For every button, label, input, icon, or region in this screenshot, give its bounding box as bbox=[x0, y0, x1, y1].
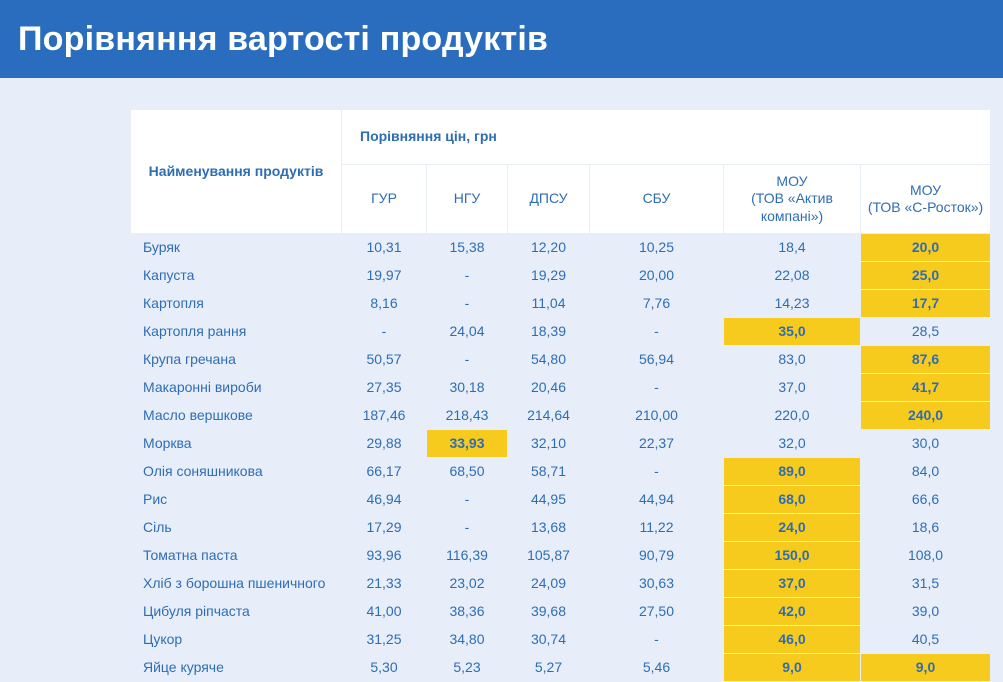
price-cell: - bbox=[427, 514, 507, 541]
price-cell: 30,63 bbox=[590, 570, 723, 597]
price-cell: - bbox=[342, 318, 426, 345]
price-cell: 56,94 bbox=[590, 346, 723, 373]
price-cell: 5,27 bbox=[508, 654, 589, 681]
price-cell: 40,5 bbox=[861, 626, 990, 653]
price-cell: 105,87 bbox=[508, 542, 589, 569]
price-cell: 46,94 bbox=[342, 486, 426, 513]
price-cell: 20,00 bbox=[590, 262, 723, 289]
price-cell: 15,38 bbox=[427, 234, 507, 261]
column-header-sbu: СБУ bbox=[590, 165, 723, 233]
table-row: Томатна паста93,96116,39105,8790,79150,0… bbox=[131, 542, 990, 569]
price-cell-highlighted: 33,93 bbox=[427, 430, 507, 457]
table-body: Буряк10,3115,3812,2010,2518,420,0Капуста… bbox=[131, 234, 990, 681]
price-cell: 34,80 bbox=[427, 626, 507, 653]
price-cell-highlighted: 9,0 bbox=[861, 654, 990, 681]
price-cell: 31,5 bbox=[861, 570, 990, 597]
price-cell: 108,0 bbox=[861, 542, 990, 569]
price-cell: 21,33 bbox=[342, 570, 426, 597]
column-header-mou-aktyv: МОУ (ТОВ «Актив компані») bbox=[724, 165, 860, 233]
price-cell: 23,02 bbox=[427, 570, 507, 597]
price-cell-highlighted: 9,0 bbox=[724, 654, 860, 681]
price-cell: - bbox=[427, 346, 507, 373]
price-cell: 187,46 bbox=[342, 402, 426, 429]
product-name-cell: Цукор bbox=[131, 626, 341, 653]
price-cell: 44,95 bbox=[508, 486, 589, 513]
price-cell: - bbox=[590, 318, 723, 345]
price-cell: 39,68 bbox=[508, 598, 589, 625]
price-cell: 32,0 bbox=[724, 430, 860, 457]
product-name-cell: Буряк bbox=[131, 234, 341, 261]
price-cell: 50,57 bbox=[342, 346, 426, 373]
price-cell-highlighted: 89,0 bbox=[724, 458, 860, 485]
price-cell: 83,0 bbox=[724, 346, 860, 373]
table-row: Макаронні вироби27,3530,1820,46-37,041,7 bbox=[131, 374, 990, 401]
price-cell: 11,22 bbox=[590, 514, 723, 541]
price-cell: 30,0 bbox=[861, 430, 990, 457]
price-cell: 18,4 bbox=[724, 234, 860, 261]
table-row: Капуста19,97-19,2920,0022,0825,0 bbox=[131, 262, 990, 289]
table-row: Цукор31,2534,8030,74-46,040,5 bbox=[131, 626, 990, 653]
price-cell: 22,37 bbox=[590, 430, 723, 457]
product-name-cell: Томатна паста bbox=[131, 542, 341, 569]
price-cell: 66,17 bbox=[342, 458, 426, 485]
price-cell: 18,6 bbox=[861, 514, 990, 541]
price-cell: 14,23 bbox=[724, 290, 860, 317]
price-cell: 214,64 bbox=[508, 402, 589, 429]
product-name-cell: Картопля bbox=[131, 290, 341, 317]
price-cell: 38,36 bbox=[427, 598, 507, 625]
price-cell: 5,46 bbox=[590, 654, 723, 681]
price-cell: - bbox=[590, 458, 723, 485]
table-row: Морква29,8833,9332,1022,3732,030,0 bbox=[131, 430, 990, 457]
price-cell-highlighted: 46,0 bbox=[724, 626, 860, 653]
table-row: Буряк10,3115,3812,2010,2518,420,0 bbox=[131, 234, 990, 261]
price-cell: 68,50 bbox=[427, 458, 507, 485]
price-cell: 41,00 bbox=[342, 598, 426, 625]
product-name-cell: Крупа гречана bbox=[131, 346, 341, 373]
price-cell-highlighted: 68,0 bbox=[724, 486, 860, 513]
price-cell-highlighted: 42,0 bbox=[724, 598, 860, 625]
price-cell: 90,79 bbox=[590, 542, 723, 569]
price-cell: 19,97 bbox=[342, 262, 426, 289]
price-cell: - bbox=[590, 626, 723, 653]
page-banner: Порівняння вартості продуктів bbox=[0, 0, 1003, 78]
table-row: Сіль17,29-13,6811,2224,018,6 bbox=[131, 514, 990, 541]
price-cell: 30,74 bbox=[508, 626, 589, 653]
price-cell: 58,71 bbox=[508, 458, 589, 485]
column-header-group-prices: Порівняння цін, грн bbox=[342, 110, 990, 164]
price-cell-highlighted: 35,0 bbox=[724, 318, 860, 345]
price-cell: 5,23 bbox=[427, 654, 507, 681]
column-header-mou-srostok-line-2: (ТОВ «С-Росток») bbox=[867, 199, 984, 217]
price-cell: 24,04 bbox=[427, 318, 507, 345]
price-cell-highlighted: 87,6 bbox=[861, 346, 990, 373]
price-cell: 12,20 bbox=[508, 234, 589, 261]
price-cell: 13,68 bbox=[508, 514, 589, 541]
table-row: Олія соняшникова66,1768,5058,71-89,084,0 bbox=[131, 458, 990, 485]
price-cell: 27,50 bbox=[590, 598, 723, 625]
price-cell-highlighted: 37,0 bbox=[724, 570, 860, 597]
price-cell: - bbox=[427, 290, 507, 317]
product-name-cell: Олія соняшникова bbox=[131, 458, 341, 485]
table-row: Масло вершкове187,46218,43214,64210,0022… bbox=[131, 402, 990, 429]
price-cell: - bbox=[427, 262, 507, 289]
price-cell-highlighted: 25,0 bbox=[861, 262, 990, 289]
table-row: Рис46,94-44,9544,9468,066,6 bbox=[131, 486, 990, 513]
column-header-mou-aktyv-line-2: (ТОВ «Актив bbox=[730, 190, 854, 208]
column-header-mou-srostok-line-1: МОУ bbox=[867, 182, 984, 200]
price-cell-highlighted: 17,7 bbox=[861, 290, 990, 317]
price-cell-highlighted: 240,0 bbox=[861, 402, 990, 429]
product-name-cell: Цибуля ріпчаста bbox=[131, 598, 341, 625]
product-name-cell: Макаронні вироби bbox=[131, 374, 341, 401]
price-cell: 8,16 bbox=[342, 290, 426, 317]
price-cell: 84,0 bbox=[861, 458, 990, 485]
price-cell-highlighted: 150,0 bbox=[724, 542, 860, 569]
column-header-mou-srostok: МОУ (ТОВ «С-Росток») bbox=[861, 165, 990, 233]
product-name-cell: Яйце куряче bbox=[131, 654, 341, 681]
price-cell: 44,94 bbox=[590, 486, 723, 513]
page-title: Порівняння вартості продуктів bbox=[18, 22, 548, 56]
product-name-cell: Масло вершкове bbox=[131, 402, 341, 429]
price-cell: 29,88 bbox=[342, 430, 426, 457]
price-cell: 220,0 bbox=[724, 402, 860, 429]
table-row: Картопля рання-24,0418,39-35,028,5 bbox=[131, 318, 990, 345]
column-header-gur: ГУР bbox=[342, 165, 426, 233]
table-header: Найменування продуктів Порівняння цін, г… bbox=[131, 110, 990, 233]
price-cell: 19,29 bbox=[508, 262, 589, 289]
price-cell: 218,43 bbox=[427, 402, 507, 429]
table-row: Хліб з борошна пшеничного21,3323,0224,09… bbox=[131, 570, 990, 597]
product-name-cell: Сіль bbox=[131, 514, 341, 541]
price-cell: 39,0 bbox=[861, 598, 990, 625]
price-cell: 54,80 bbox=[508, 346, 589, 373]
price-cell: - bbox=[427, 486, 507, 513]
column-header-mou-aktyv-line-1: МОУ bbox=[730, 173, 854, 191]
price-comparison-table: Найменування продуктів Порівняння цін, г… bbox=[130, 109, 991, 682]
price-cell-highlighted: 41,7 bbox=[861, 374, 990, 401]
product-name-cell: Хліб з борошна пшеничного bbox=[131, 570, 341, 597]
product-name-cell: Рис bbox=[131, 486, 341, 513]
price-cell: 27,35 bbox=[342, 374, 426, 401]
price-cell: 93,96 bbox=[342, 542, 426, 569]
table-row: Картопля8,16-11,047,7614,2317,7 bbox=[131, 290, 990, 317]
product-name-cell: Капуста bbox=[131, 262, 341, 289]
column-header-mou-aktyv-line-3: компані») bbox=[730, 208, 854, 226]
price-cell: - bbox=[590, 374, 723, 401]
price-cell: 18,39 bbox=[508, 318, 589, 345]
price-cell: 11,04 bbox=[508, 290, 589, 317]
price-cell: 20,46 bbox=[508, 374, 589, 401]
table-area: Найменування продуктів Порівняння цін, г… bbox=[0, 78, 1003, 682]
column-header-ngu: НГУ bbox=[427, 165, 507, 233]
column-header-dpsu: ДПСУ bbox=[508, 165, 589, 233]
price-cell: 10,25 bbox=[590, 234, 723, 261]
price-cell: 5,30 bbox=[342, 654, 426, 681]
price-cell: 116,39 bbox=[427, 542, 507, 569]
price-cell: 24,09 bbox=[508, 570, 589, 597]
price-cell: 17,29 bbox=[342, 514, 426, 541]
price-cell-highlighted: 20,0 bbox=[861, 234, 990, 261]
table-row: Крупа гречана50,57-54,8056,9483,087,6 bbox=[131, 346, 990, 373]
price-cell: 7,76 bbox=[590, 290, 723, 317]
product-name-cell: Морква bbox=[131, 430, 341, 457]
column-header-product-name: Найменування продуктів bbox=[131, 110, 341, 233]
price-cell: 10,31 bbox=[342, 234, 426, 261]
price-cell-highlighted: 24,0 bbox=[724, 514, 860, 541]
table-row: Яйце куряче5,305,235,275,469,09,0 bbox=[131, 654, 990, 681]
price-cell: 22,08 bbox=[724, 262, 860, 289]
price-cell: 37,0 bbox=[724, 374, 860, 401]
product-name-cell: Картопля рання bbox=[131, 318, 341, 345]
price-cell: 31,25 bbox=[342, 626, 426, 653]
price-cell: 66,6 bbox=[861, 486, 990, 513]
price-cell: 30,18 bbox=[427, 374, 507, 401]
price-cell: 210,00 bbox=[590, 402, 723, 429]
table-header-row-group: Найменування продуктів Порівняння цін, г… bbox=[131, 110, 990, 164]
price-cell: 28,5 bbox=[861, 318, 990, 345]
table-row: Цибуля ріпчаста41,0038,3639,6827,5042,03… bbox=[131, 598, 990, 625]
price-cell: 32,10 bbox=[508, 430, 589, 457]
